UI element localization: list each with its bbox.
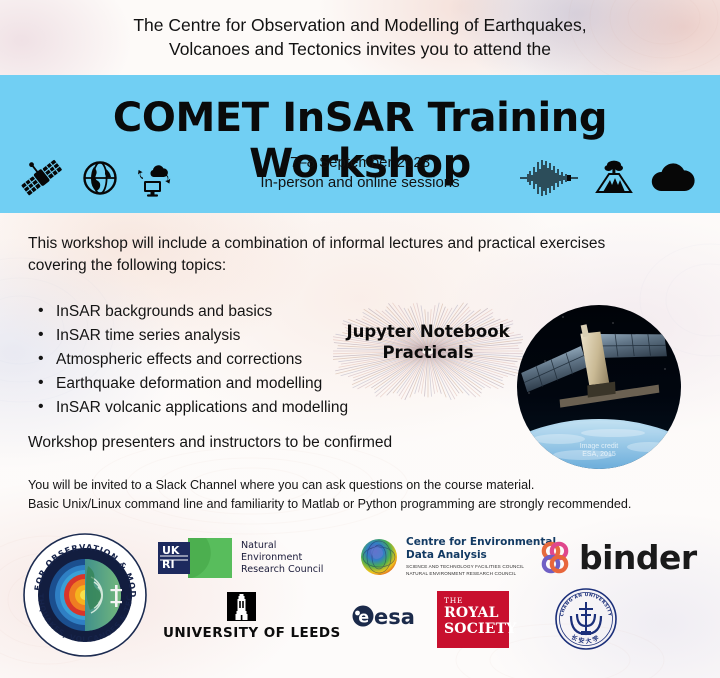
royal-society-name: ROYAL SOCIETY xyxy=(444,605,509,637)
logo-esa: e esa xyxy=(352,602,424,635)
logo-ukri-nerc: UK RI Natural Environment Research Counc… xyxy=(158,538,323,578)
binder-wordmark: binder xyxy=(579,538,697,577)
presenters-note: Workshop presenters and instructors to b… xyxy=(28,434,392,452)
volcano-icon xyxy=(594,158,634,198)
logo-ceda: Centre for Environmental Data Analysis S… xyxy=(360,536,556,578)
jupyter-callout-text: Jupyter Notebook Practicals xyxy=(333,322,523,363)
jupyter-callout: Jupyter Notebook Practicals xyxy=(333,292,523,410)
logo-changan-university: CHANG'AN UNIVERSITY 长安大学 xyxy=(555,588,617,650)
logo-royal-society: THE ROYAL SOCIETY xyxy=(437,591,509,648)
banner-icons-right xyxy=(520,158,696,198)
jupyter-callout-line-1: Jupyter Notebook xyxy=(333,322,523,343)
ukri-mark-icon: UK RI xyxy=(158,538,232,578)
ceda-title: Centre for Environmental Data Analysis xyxy=(406,536,556,561)
intro-text: The Centre for Observation and Modelling… xyxy=(0,14,720,61)
logo-comet: CENTRE FOR OBSERVATION & MODELLING OF EA… xyxy=(22,532,148,658)
banner-icons-left xyxy=(20,158,174,198)
ceda-subtitle: SCIENCE AND TECHNOLOGY FACILITIES COUNCI… xyxy=(406,564,556,578)
leeds-wordmark: UNIVERSITY OF LEEDS xyxy=(163,625,341,641)
seismogram-icon xyxy=(520,159,578,197)
intro-line-1: The Centre for Observation and Modelling… xyxy=(0,14,720,38)
jupyter-callout-line-2: Practicals xyxy=(333,343,523,364)
cloud-icon xyxy=(650,161,696,195)
cloud-computing-icon xyxy=(136,159,174,197)
body-intro-line-2: covering the following topics: xyxy=(28,255,668,277)
ceda-globe-icon xyxy=(360,538,398,576)
svg-text:UK: UK xyxy=(162,544,180,557)
binder-mark-icon xyxy=(538,540,572,576)
logo-binder: binder xyxy=(538,538,697,577)
changan-university-icon: CHANG'AN UNIVERSITY 长安大学 xyxy=(555,588,617,650)
logo-university-of-leeds: UNIVERSITY OF LEEDS xyxy=(163,592,341,641)
body-intro-line-1: This workshop will include a combination… xyxy=(28,233,668,255)
footnote-line-2: Basic Unix/Linux command line and famili… xyxy=(28,495,698,514)
footnote: You will be invited to a Slack Channel w… xyxy=(28,476,698,514)
satellite-photo: Image credit ESA, 2015 xyxy=(517,305,681,469)
poster-canvas: The Centre for Observation and Modelling… xyxy=(0,0,720,678)
leeds-tower-glyph xyxy=(227,592,256,621)
nerc-label: Natural Environment Research Council xyxy=(241,540,323,577)
satellite-icon xyxy=(20,158,64,198)
footnote-line-1: You will be invited to a Slack Channel w… xyxy=(28,476,698,495)
body-intro: This workshop will include a combination… xyxy=(28,233,668,277)
image-credit: Image credit ESA, 2015 xyxy=(517,443,681,461)
intro-line-2: Volcanoes and Tectonics invites you to a… xyxy=(0,38,720,62)
comet-logo-icon: CENTRE FOR OBSERVATION & MODELLING OF EA… xyxy=(22,532,148,658)
globe-icon xyxy=(82,160,118,196)
svg-text:e: e xyxy=(358,608,369,627)
esa-text: esa xyxy=(374,605,415,629)
esa-wordmark-icon: e esa xyxy=(352,602,424,630)
royal-society-the: THE xyxy=(444,596,509,605)
leeds-tower-icon xyxy=(227,592,256,621)
